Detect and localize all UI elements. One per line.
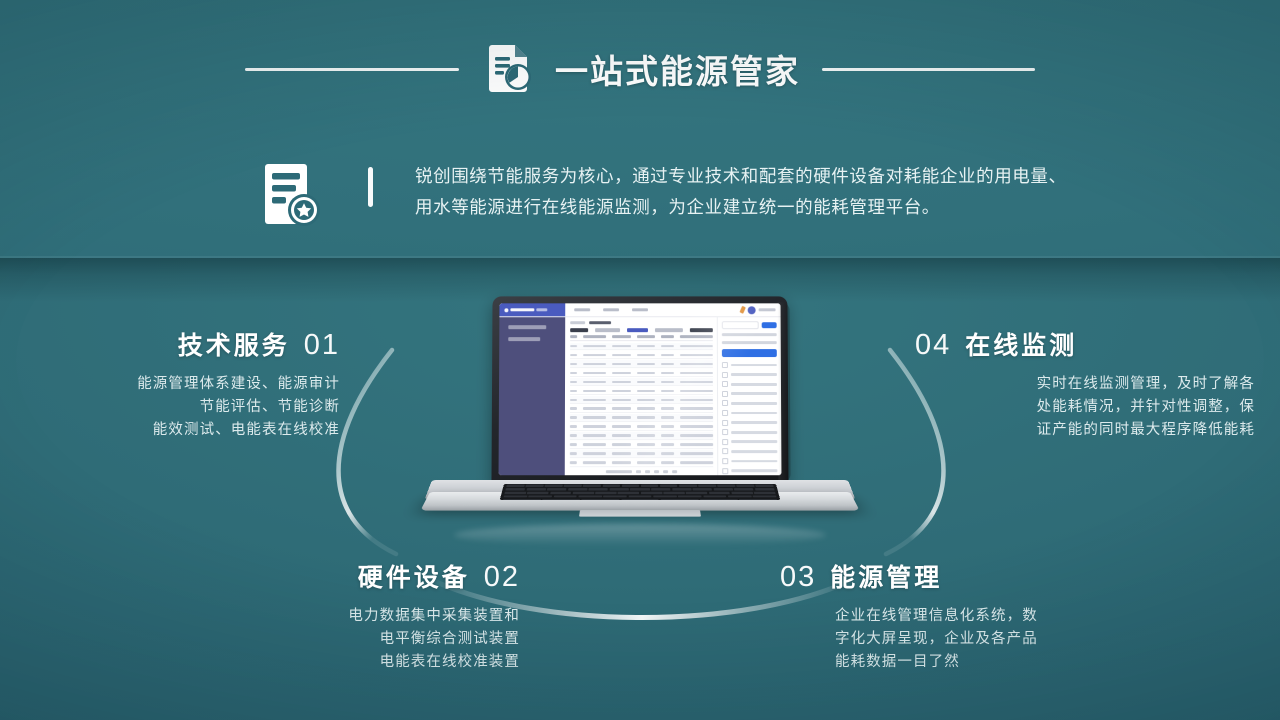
table-row[interactable] <box>570 459 713 467</box>
feature-02-line-1: 电力数据集中采集装置和 <box>190 605 520 628</box>
list-item[interactable] <box>722 468 777 474</box>
pagination-summary <box>606 470 632 473</box>
dashboard-content <box>565 317 718 475</box>
checkbox[interactable] <box>722 458 728 464</box>
column-header-time <box>680 335 713 338</box>
table-row[interactable] <box>570 423 713 431</box>
feature-04-title: 在线监测 <box>965 326 1077 362</box>
feature-03-title: 能源管理 <box>830 558 942 594</box>
feature-03-description: 企业在线管理信息化系统，数 字化大屏呈现，企业及各产品 能耗数据一目了然 <box>835 605 1120 674</box>
edit-pencil-icon[interactable] <box>739 306 745 314</box>
feature-04-number: 04 <box>915 329 951 362</box>
filter-active[interactable] <box>627 328 648 331</box>
column-header-value <box>612 335 631 338</box>
filter-label-2 <box>690 328 713 331</box>
panel-primary-button[interactable] <box>722 349 777 357</box>
dashboard-body <box>499 317 782 475</box>
search-input[interactable] <box>722 321 759 329</box>
feature-04-line-3: 证产能的同时最大程序降低能耗 <box>961 419 1255 442</box>
avatar[interactable] <box>748 306 756 314</box>
slide-canvas: 一站式能源管家 锐创围绕节能服务为核心，通过专业技术和配套的硬件设备对耗能企业的… <box>0 0 1280 720</box>
filter-value-2[interactable] <box>655 328 683 331</box>
intro-line-1: 锐创围绕节能服务为核心，通过专业技术和配套的硬件设备对耗能企业的用电量、 <box>415 161 1067 192</box>
table-row[interactable] <box>570 343 713 351</box>
column-header-status <box>661 335 674 338</box>
logo-mark-icon <box>504 308 508 312</box>
checkbox[interactable] <box>722 429 728 435</box>
panel-search-row[interactable] <box>722 321 777 329</box>
checkbox[interactable] <box>722 362 728 368</box>
document-star-badge-icon <box>262 160 324 237</box>
document-pie-chart-icon <box>481 40 535 99</box>
table-row[interactable] <box>570 414 713 422</box>
table-row[interactable] <box>570 352 713 360</box>
laptop-trackpad <box>579 510 701 517</box>
column-header-name <box>584 335 606 338</box>
page-title: 一站式能源管家 <box>555 45 800 93</box>
checkbox[interactable] <box>722 439 728 445</box>
feature-01-line-2: 节能评估、节能诊断 <box>30 396 340 419</box>
feature-03-heading: 03 能源管理 <box>780 558 1120 594</box>
search-button[interactable] <box>762 322 777 328</box>
table-row[interactable] <box>570 432 713 440</box>
divider-line-right-icon <box>822 68 1035 71</box>
dashboard-main <box>565 317 782 475</box>
table-row[interactable] <box>570 378 713 386</box>
feature-03-line-3: 能耗数据一目了然 <box>835 651 1120 674</box>
data-table <box>570 335 713 468</box>
feature-04-description: 实时在线监测管理，及时了解各 处能耗情况，并针对性调整，保 证产能的同时最大程序… <box>961 373 1255 442</box>
dashboard-side-panel <box>717 317 782 475</box>
table-row[interactable] <box>570 450 713 458</box>
checkbox[interactable] <box>722 448 728 454</box>
pagination-prev[interactable] <box>636 470 641 473</box>
column-header-unit <box>637 335 655 338</box>
list-item[interactable] <box>722 372 777 378</box>
checkbox[interactable] <box>722 391 728 397</box>
feature-02-number: 02 <box>484 561 520 594</box>
table-row[interactable] <box>570 405 713 413</box>
feature-01-description: 能源管理体系建设、能源审计 节能评估、节能诊断 能效测试、电能表在线校准 <box>30 373 340 442</box>
checkbox[interactable] <box>722 410 728 416</box>
laptop-mockup <box>430 296 850 531</box>
intro-line-2: 用水等能源进行在线能源监测，为企业建立统一的能耗管理平台。 <box>415 192 1067 223</box>
title-wrap: 一站式能源管家 <box>481 40 800 99</box>
filter-bar[interactable] <box>570 328 713 331</box>
sidebar-item-1[interactable] <box>508 325 546 329</box>
table-pagination[interactable] <box>570 467 713 473</box>
list-item[interactable] <box>722 381 777 387</box>
feature-01-title: 技术服务 <box>178 326 290 362</box>
nav-item-3[interactable] <box>632 308 648 311</box>
feature-03-number: 03 <box>780 561 816 594</box>
logo-subtext <box>536 308 547 311</box>
intro-block: 锐创围绕节能服务为核心，通过专业技术和配套的硬件设备对耗能企业的用电量、 用水等… <box>262 158 1262 238</box>
table-row[interactable] <box>570 441 713 449</box>
filter-label-1 <box>570 328 588 331</box>
feature-04-line-2: 处能耗情况，并针对性调整，保 <box>961 396 1255 419</box>
dashboard-nav[interactable] <box>565 308 740 311</box>
table-row[interactable] <box>570 360 713 368</box>
list-item[interactable] <box>722 458 777 464</box>
list-item[interactable] <box>722 400 777 406</box>
user-name <box>759 308 776 311</box>
feature-block-02: 硬件设备 02 电力数据集中采集装置和 电平衡综合测试装置 电能表在线校准装置 <box>190 558 520 674</box>
laptop-screen <box>499 303 782 475</box>
feature-01-line-1: 能源管理体系建设、能源审计 <box>30 373 340 396</box>
breadcrumb-root[interactable] <box>570 321 585 324</box>
feature-block-04: 04 在线监测 实时在线监测管理，及时了解各 处能耗情况，并针对性调整，保 证产… <box>915 326 1255 442</box>
breadcrumb <box>570 321 713 324</box>
pagination-page-1[interactable] <box>645 470 650 473</box>
list-item[interactable] <box>722 410 777 416</box>
checkbox[interactable] <box>722 468 728 474</box>
checkbox[interactable] <box>722 420 728 426</box>
column-header-index <box>570 335 577 338</box>
nav-item-2[interactable] <box>603 308 619 311</box>
logo-text <box>510 308 534 311</box>
feature-02-title: 硬件设备 <box>358 558 470 594</box>
checkbox[interactable] <box>722 372 728 378</box>
intro-text: 锐创围绕节能服务为核心，通过专业技术和配套的硬件设备对耗能企业的用电量、 用水等… <box>415 161 1067 223</box>
checkbox[interactable] <box>722 400 728 406</box>
nav-item-1[interactable] <box>574 308 590 311</box>
dashboard-sidebar[interactable] <box>499 317 566 475</box>
sidebar-item-2[interactable] <box>508 337 540 341</box>
feature-04-heading: 04 在线监测 <box>915 326 1255 362</box>
header: 一站式能源管家 <box>0 34 1280 104</box>
feature-02-description: 电力数据集中采集装置和 电平衡综合测试装置 电能表在线校准装置 <box>190 605 520 674</box>
dashboard-logo[interactable] <box>499 303 565 316</box>
list-item[interactable] <box>722 362 777 368</box>
feature-01-heading: 技术服务 01 <box>30 326 340 362</box>
feature-03-line-2: 字化大屏呈现，企业及各产品 <box>835 628 1120 651</box>
list-item[interactable] <box>722 429 777 435</box>
table-header <box>570 335 713 341</box>
table-row[interactable] <box>570 369 713 377</box>
breadcrumb-current <box>589 321 611 324</box>
dashboard-user-area[interactable] <box>741 306 781 314</box>
feature-02-heading: 硬件设备 02 <box>190 558 520 594</box>
feature-block-03: 03 能源管理 企业在线管理信息化系统，数 字化大屏呈现，企业及各产品 能耗数据… <box>780 558 1120 674</box>
list-item[interactable] <box>722 391 777 397</box>
list-item[interactable] <box>722 448 777 454</box>
panel-filter-2[interactable] <box>722 341 777 344</box>
dashboard-topbar <box>499 303 780 317</box>
list-item[interactable] <box>722 420 777 426</box>
list-item[interactable] <box>722 439 777 445</box>
laptop-keyboard <box>500 484 780 500</box>
pagination-page-3[interactable] <box>663 470 668 473</box>
checkbox[interactable] <box>722 381 728 387</box>
intro-separator <box>368 167 373 207</box>
feature-02-line-3: 电能表在线校准装置 <box>190 651 520 674</box>
feature-block-01: 技术服务 01 能源管理体系建设、能源审计 节能评估、节能诊断 能效测试、电能表… <box>30 326 340 442</box>
laptop-reflection <box>454 524 826 546</box>
filter-value-1[interactable] <box>595 328 620 331</box>
feature-01-line-3: 能效测试、电能表在线校准 <box>30 419 340 442</box>
feature-01-number: 01 <box>304 329 340 362</box>
feature-02-line-2: 电平衡综合测试装置 <box>190 628 520 651</box>
divider-line-left-icon <box>245 68 459 71</box>
feature-03-line-1: 企业在线管理信息化系统，数 <box>835 605 1120 628</box>
table-row[interactable] <box>570 396 713 404</box>
laptop-lid <box>491 296 788 484</box>
feature-04-line-1: 实时在线监测管理，及时了解各 <box>961 373 1255 396</box>
panel-filter-1[interactable] <box>722 333 777 336</box>
pagination-page-2[interactable] <box>654 470 659 473</box>
table-row[interactable] <box>570 387 713 395</box>
pagination-next[interactable] <box>672 470 677 473</box>
